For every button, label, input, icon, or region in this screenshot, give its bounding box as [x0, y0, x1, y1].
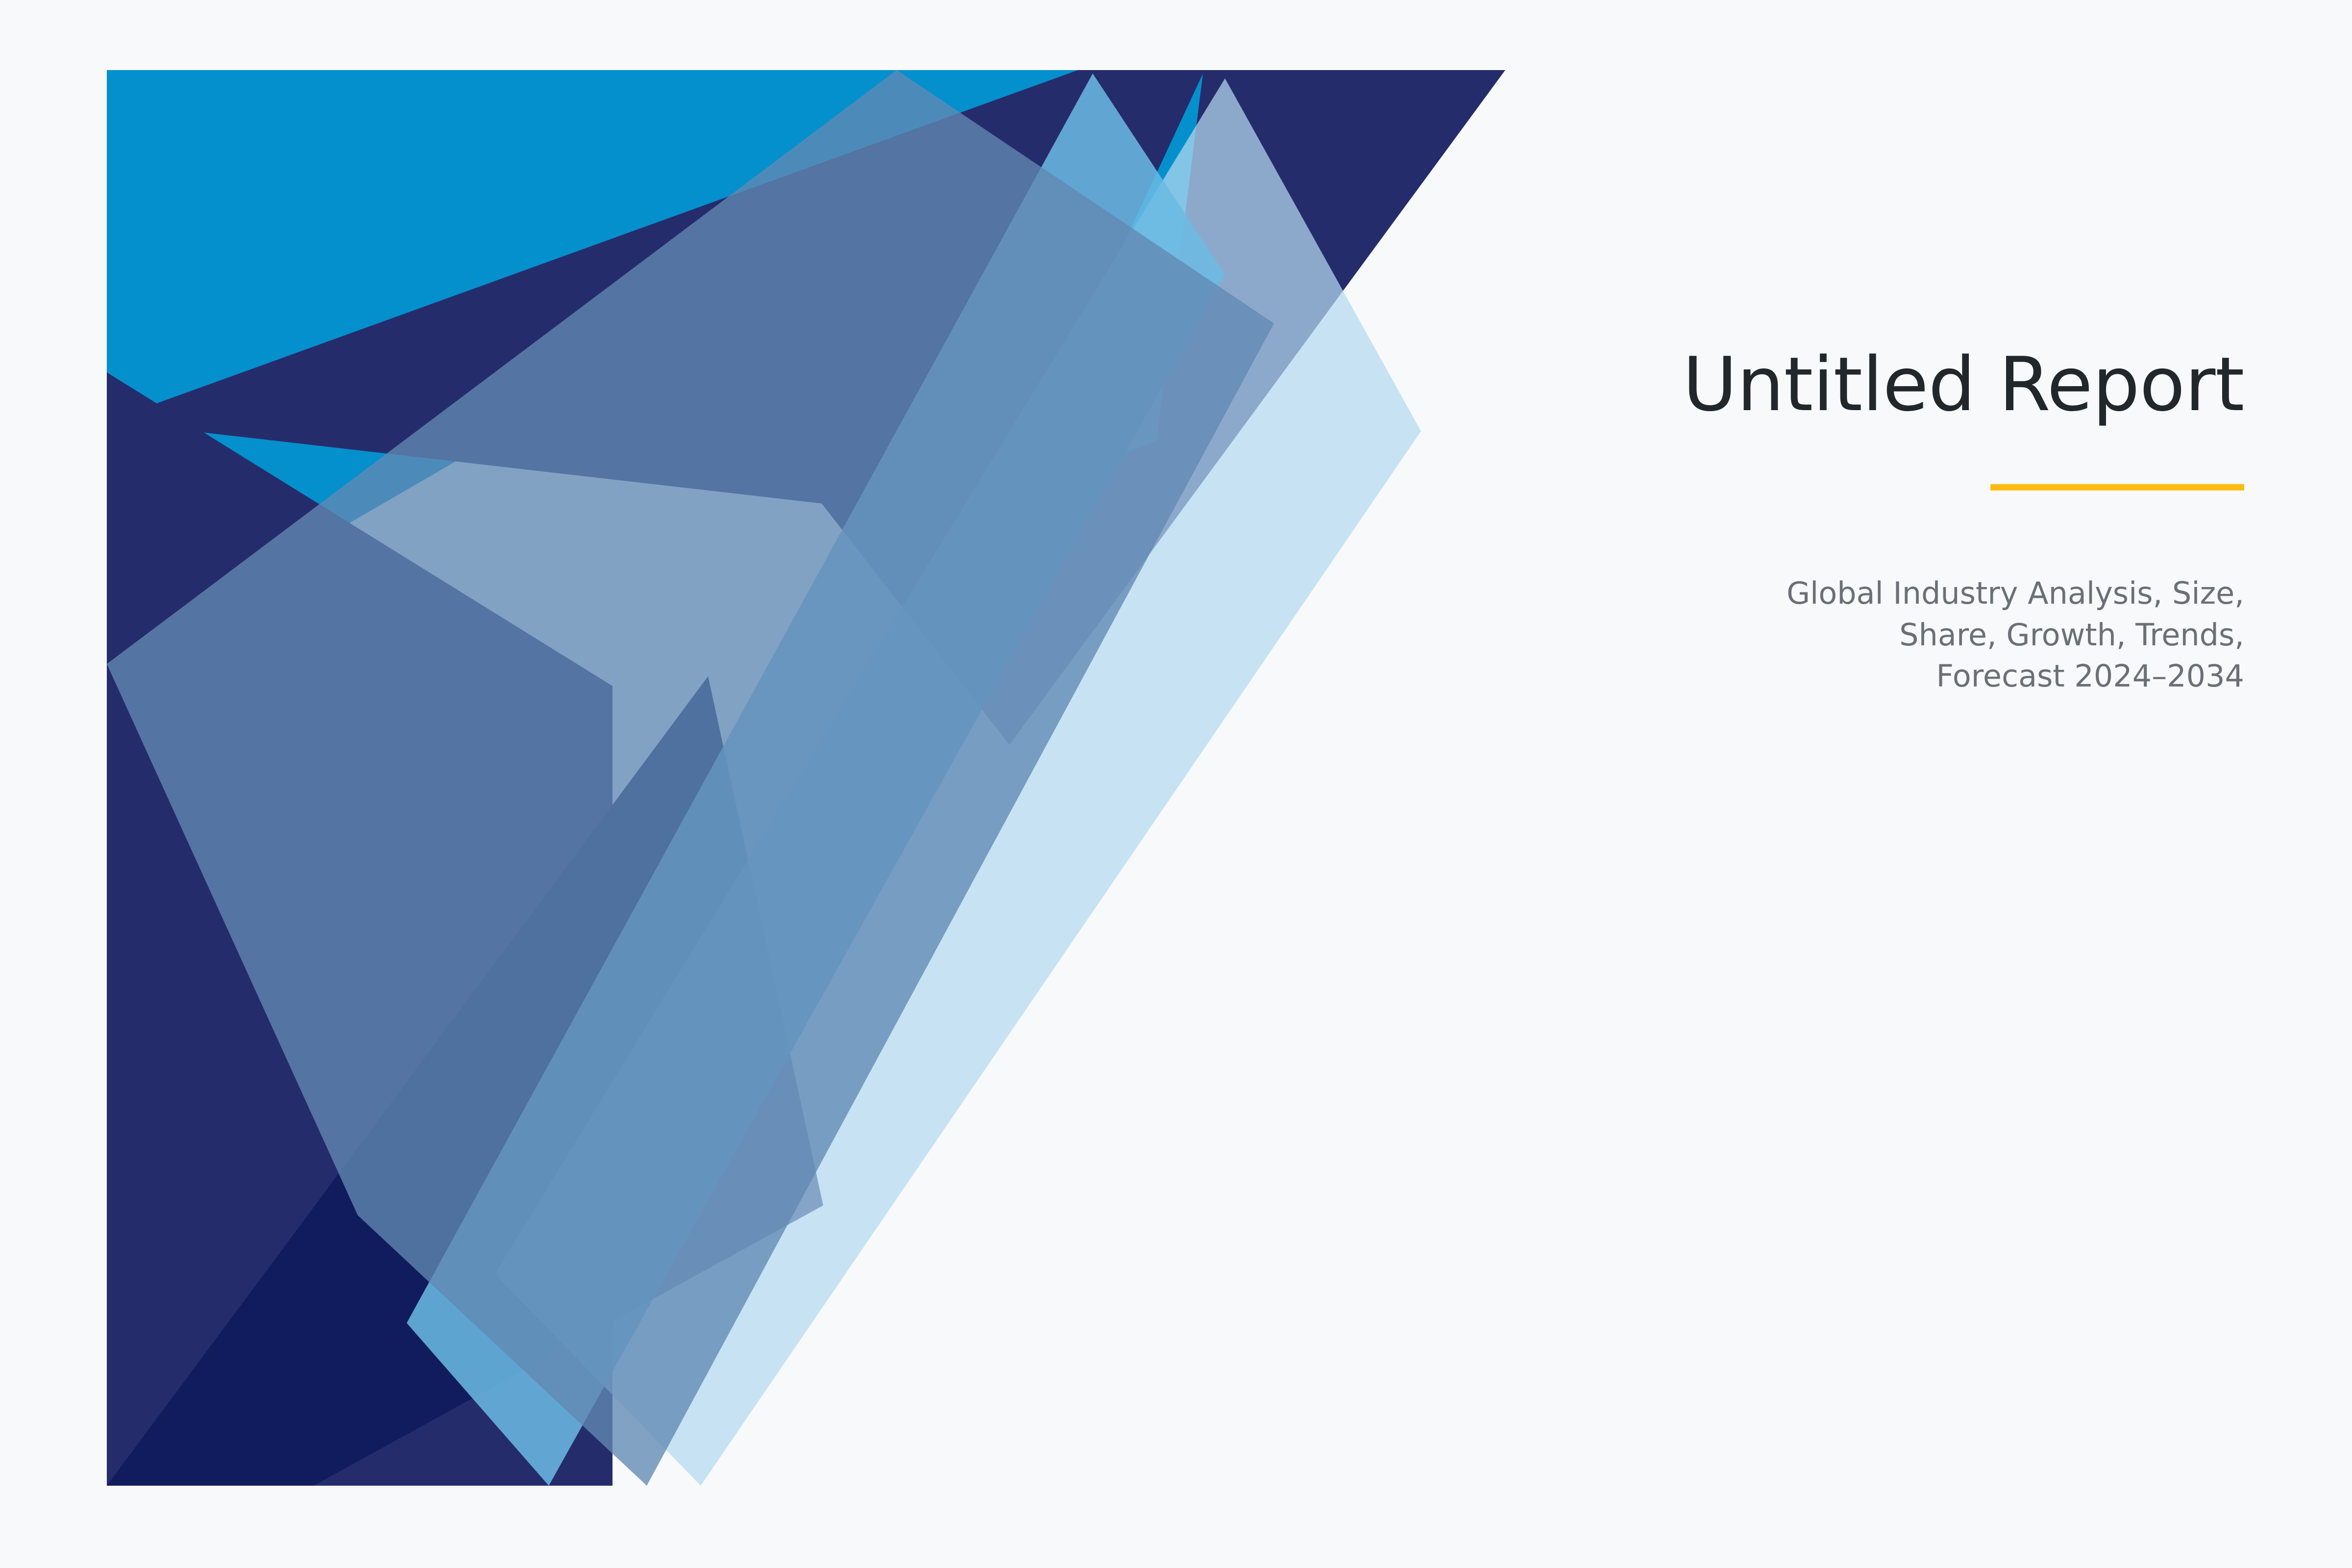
cover-artwork: [0, 0, 1568, 1568]
page-title: Untitled Report: [1558, 343, 2244, 426]
page-subtitle: Global Industry Analysis, Size, Share, G…: [1784, 573, 2244, 697]
title-accent-rule: [1990, 484, 2244, 490]
artwork-shape-group: [107, 70, 1505, 1486]
cover-artwork-svg: [0, 0, 1568, 1568]
report-cover-page: Untitled Report Global Industry Analysis…: [0, 0, 2352, 1568]
cover-text-block: Untitled Report Global Industry Analysis…: [1558, 343, 2244, 697]
